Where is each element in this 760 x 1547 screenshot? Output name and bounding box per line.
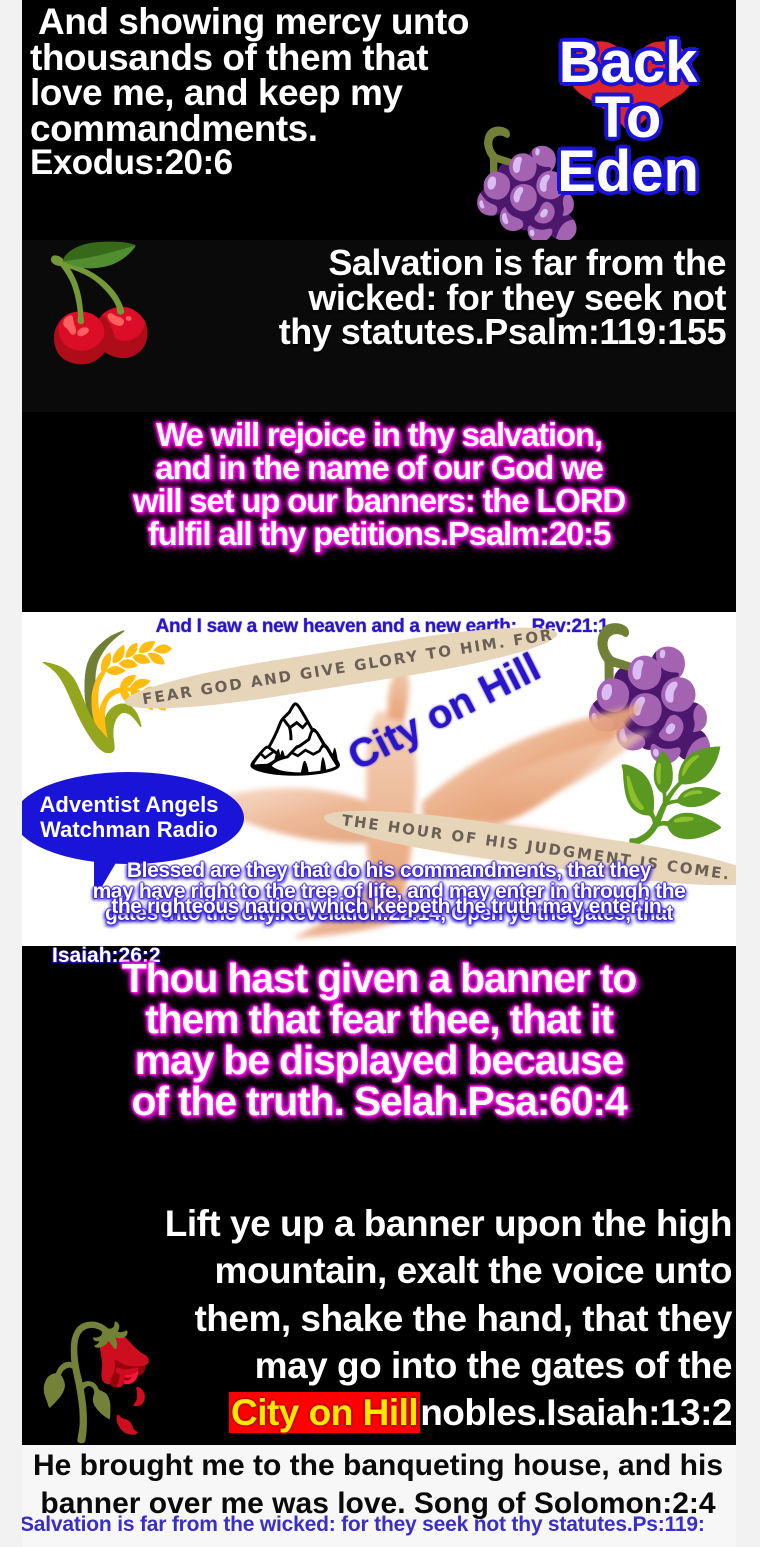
psalm20-line-3: will set up our banners: the LORD — [26, 484, 732, 517]
scrolling-ticker-text: Salvation is far from the wicked: for th… — [22, 1513, 736, 1537]
psalm60-line-4: of the truth. Selah.Psa:60:4 — [24, 1081, 734, 1122]
song-line-1: He brought me to the banqueting house, a… — [28, 1447, 728, 1485]
brand-logo-line-1: Back — [518, 36, 736, 91]
verse-section-psalm119: 🍒 Salvation is far from the wicked: for … — [22, 240, 736, 412]
song-of-solomon-text: He brought me to the banqueting house, a… — [28, 1447, 728, 1523]
psalm20-verse-text: We will rejoice in thy salvation, and in… — [26, 418, 732, 550]
isaiah13-line-2: mountain, exalt the voice unto — [46, 1247, 732, 1294]
wilted-rose-icon: 🥀 — [28, 1328, 165, 1438]
verse-section-isaiah13: 🥀 Lift ye up a banner upon the high moun… — [22, 1192, 736, 1445]
psalm20-line-4: fulfil all thy petitions.Psalm:20:5 — [26, 517, 732, 550]
brand-logo[interactable]: Back To Eden — [518, 36, 736, 200]
radio-station-bubble[interactable]: Adventist Angels Watchman Radio — [22, 772, 244, 864]
psalm60-line-1: Thou hast given a banner to — [24, 958, 734, 999]
radio-name-line-1: Adventist Angels — [22, 792, 244, 817]
verse-section-psalm60: the righteous nation which keepeth the t… — [22, 946, 736, 1192]
exodus-line-1: And showing mercy unto — [38, 4, 590, 40]
psalm119-line-1: Salvation is far from the — [108, 246, 726, 281]
brand-logo-line-3: Eden — [518, 145, 736, 200]
city-on-hill-badge[interactable]: City on Hill — [229, 1392, 420, 1433]
radio-name-line-2: Watchman Radio — [22, 817, 244, 842]
isaiah13-reference: nobles.Isaiah:13:2 — [420, 1392, 732, 1433]
mountain-icon: 🏔 — [247, 702, 343, 778]
blessed-line-1: Blessed are they that do his commandment… — [44, 860, 734, 881]
verse-section-exodus: ❤ And showing mercy unto thousands of th… — [22, 0, 736, 240]
psalm60-verse-text: Thou hast given a banner to them that fe… — [24, 958, 734, 1122]
verse-section-song-of-solomon: He brought me to the banqueting house, a… — [22, 1445, 736, 1547]
verse-section-psalm20: We will rejoice in thy salvation, and in… — [22, 412, 736, 612]
psalm119-verse-text: Salvation is far from the wicked: for th… — [108, 246, 726, 350]
psalm20-line-1: We will rejoice in thy salvation, — [26, 418, 732, 451]
psalm119-line-3: thy statutes.Psalm:119:155 — [108, 315, 726, 350]
psalm60-line-3: may be displayed because — [24, 1040, 734, 1081]
poster-canvas: ❤ And showing mercy unto thousands of th… — [22, 0, 736, 1547]
exodus-line-2: thousands of them that — [30, 40, 590, 76]
brand-logo-line-2: To — [518, 91, 736, 146]
blessed-line-4: the righteous nation which keepeth the t… — [44, 896, 734, 917]
psalm20-line-2: and in the name of our God we — [26, 451, 732, 484]
psalm60-line-2: them that fear thee, that it — [24, 999, 734, 1040]
exodus-line-3: love me, and keep my — [30, 75, 590, 111]
isaiah13-line-1: Lift ye up a banner upon the high — [46, 1200, 732, 1247]
psalm119-line-2: wicked: for they seek not — [108, 281, 726, 316]
